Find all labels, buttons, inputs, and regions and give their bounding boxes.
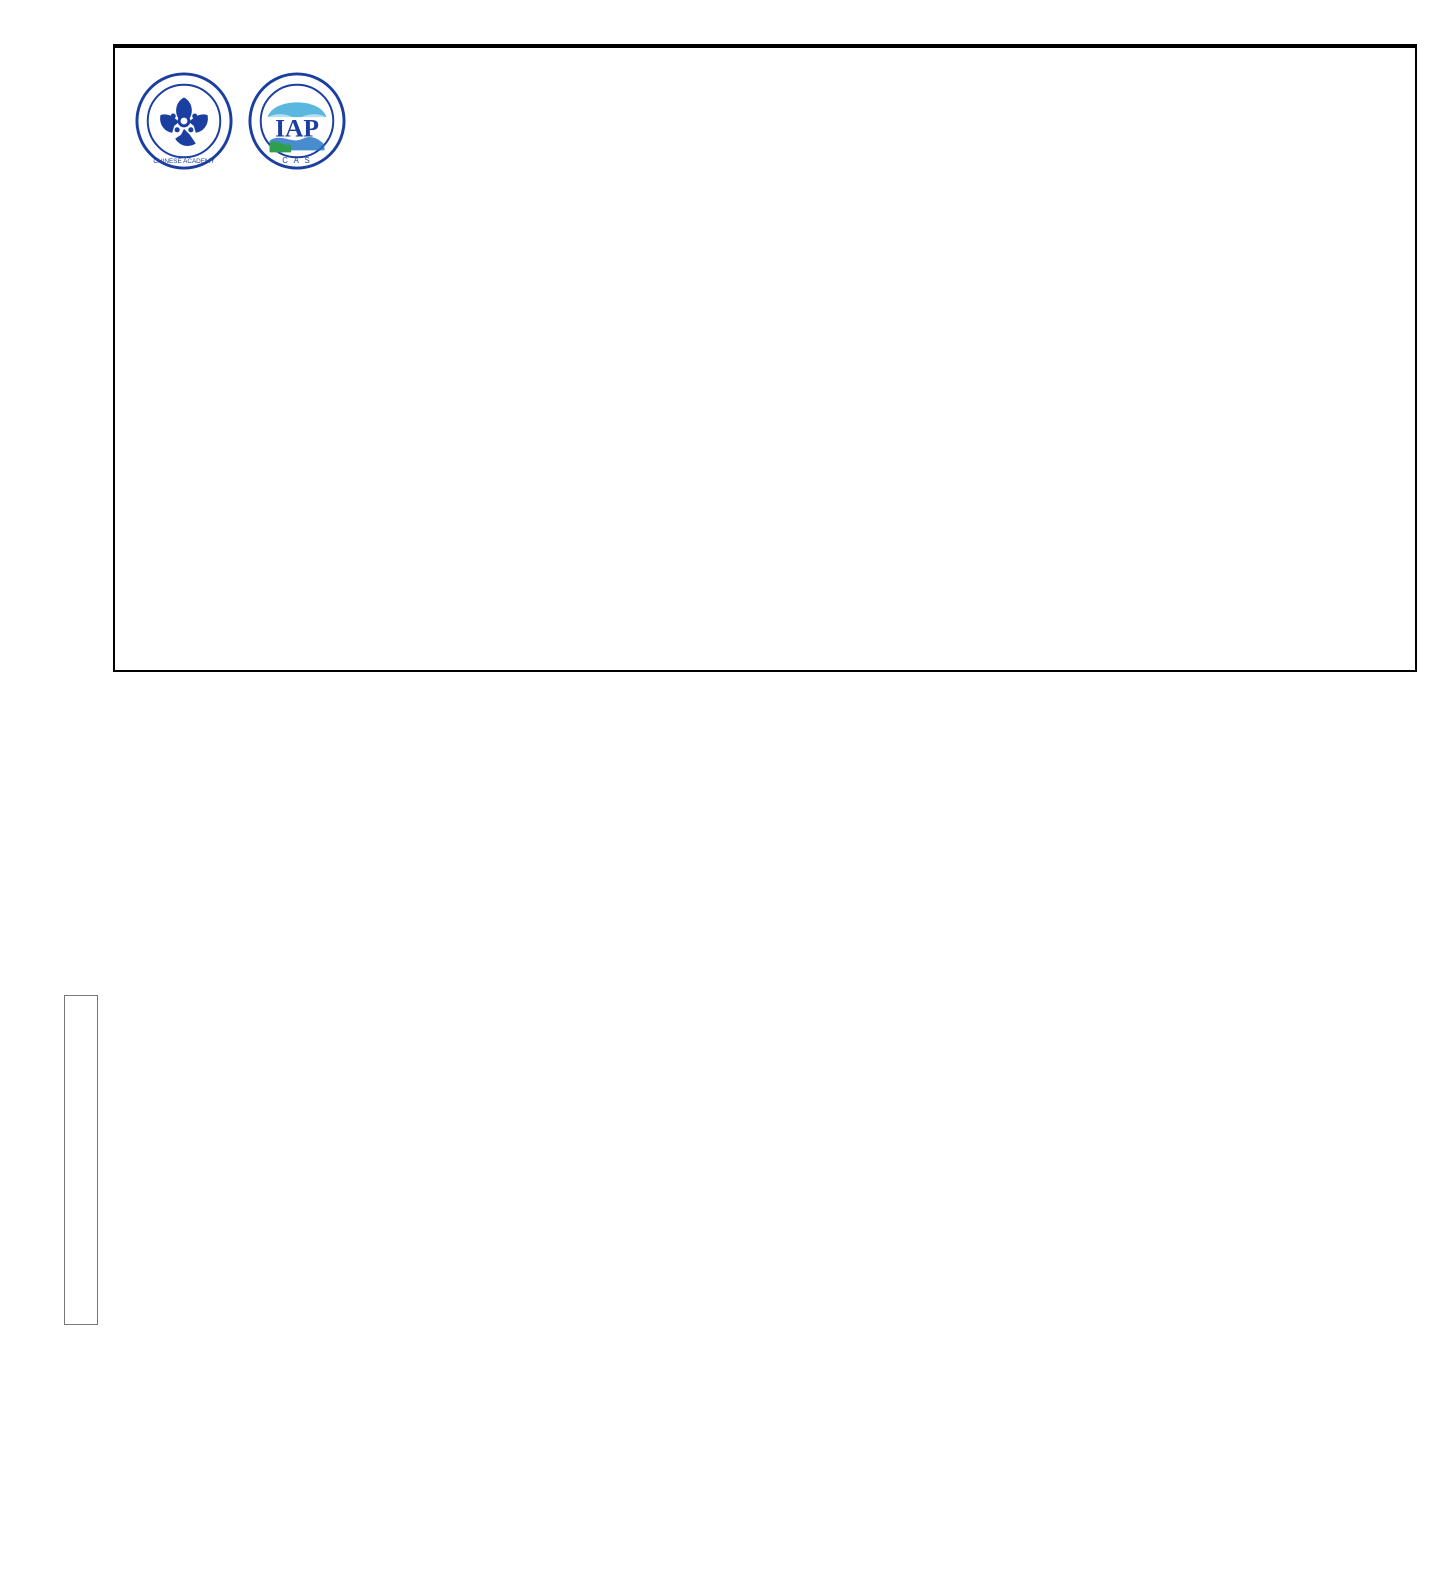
figure-root: CHINESE ACADEMY IAP C A S: [0, 0, 1440, 1579]
svg-text:C A S: C A S: [282, 156, 311, 165]
chinese-academy-of-sciences-logo: CHINESE ACADEMY: [135, 72, 233, 170]
x-axis-labels-top: [113, 676, 1417, 716]
y-axis-labels: [0, 44, 100, 672]
ohc-timeseries-plot: CHINESE ACADEMY IAP C A S: [113, 44, 1417, 672]
svg-text:CHINESE ACADEMY: CHINESE ACADEMY: [153, 158, 215, 165]
iap-cas-logo: IAP C A S: [248, 72, 346, 170]
x-axis-labels-bottom: [119, 1536, 1417, 1576]
colorbar: [64, 995, 98, 1325]
colorbar-labels: [0, 995, 58, 1325]
